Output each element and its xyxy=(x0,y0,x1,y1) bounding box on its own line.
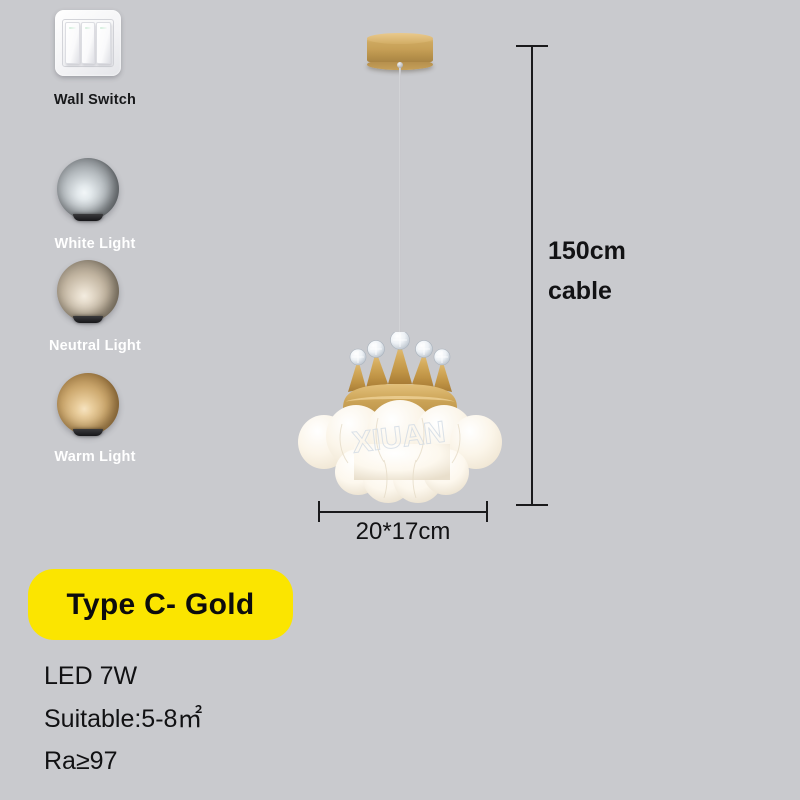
type-badge-label: Type C- Gold xyxy=(66,588,254,622)
switch-rocker xyxy=(65,22,80,64)
light-bulb-sphere-icon-neutral xyxy=(57,260,119,322)
specs-list: LED 7W Suitable:5-8㎡ Ra≥97 xyxy=(44,655,374,783)
spec-area: Suitable:5-8㎡ xyxy=(44,698,374,741)
bulb-base xyxy=(73,214,103,221)
cable-dimension-unit: cable xyxy=(548,272,718,312)
wall-switch-icon xyxy=(55,10,121,76)
cable-dimension-value: 150cm xyxy=(548,232,718,272)
product-infographic: Wall Switch White Light Neutral Light Wa… xyxy=(0,0,800,800)
light-mode-label-warm: Warm Light xyxy=(0,449,190,465)
pendant-lamp: XIUAN xyxy=(296,332,504,512)
light-mode-label-neutral: Neutral Light xyxy=(0,338,190,354)
switch-rocker xyxy=(81,22,96,64)
light-mode-label-white: White Light xyxy=(0,236,190,252)
suspension-cable xyxy=(399,62,401,352)
cable-dimension-line xyxy=(531,45,533,506)
canopy-top xyxy=(367,33,433,44)
cable-dimension-label: 150cm cable xyxy=(548,232,718,311)
options-column: Wall Switch White Light Neutral Light Wa… xyxy=(0,0,190,520)
cable-dimension-cap-bottom xyxy=(516,504,548,506)
light-bulb-sphere-icon-warm xyxy=(57,373,119,435)
bulb-base xyxy=(73,429,103,436)
ceiling-canopy xyxy=(367,33,433,65)
shade-dimension-label: 20*17cm xyxy=(300,518,506,546)
wall-switch-label: Wall Switch xyxy=(0,92,190,108)
light-bulb-sphere-icon-white xyxy=(57,158,119,220)
bulb-base xyxy=(73,316,103,323)
canopy-screw xyxy=(397,62,403,68)
switch-plate xyxy=(62,19,114,67)
type-badge: Type C- Gold xyxy=(28,569,293,640)
spec-wattage: LED 7W xyxy=(44,655,374,698)
spec-cri: Ra≥97 xyxy=(44,740,374,783)
switch-rocker xyxy=(96,22,111,64)
shade-dimension-line xyxy=(318,511,488,513)
